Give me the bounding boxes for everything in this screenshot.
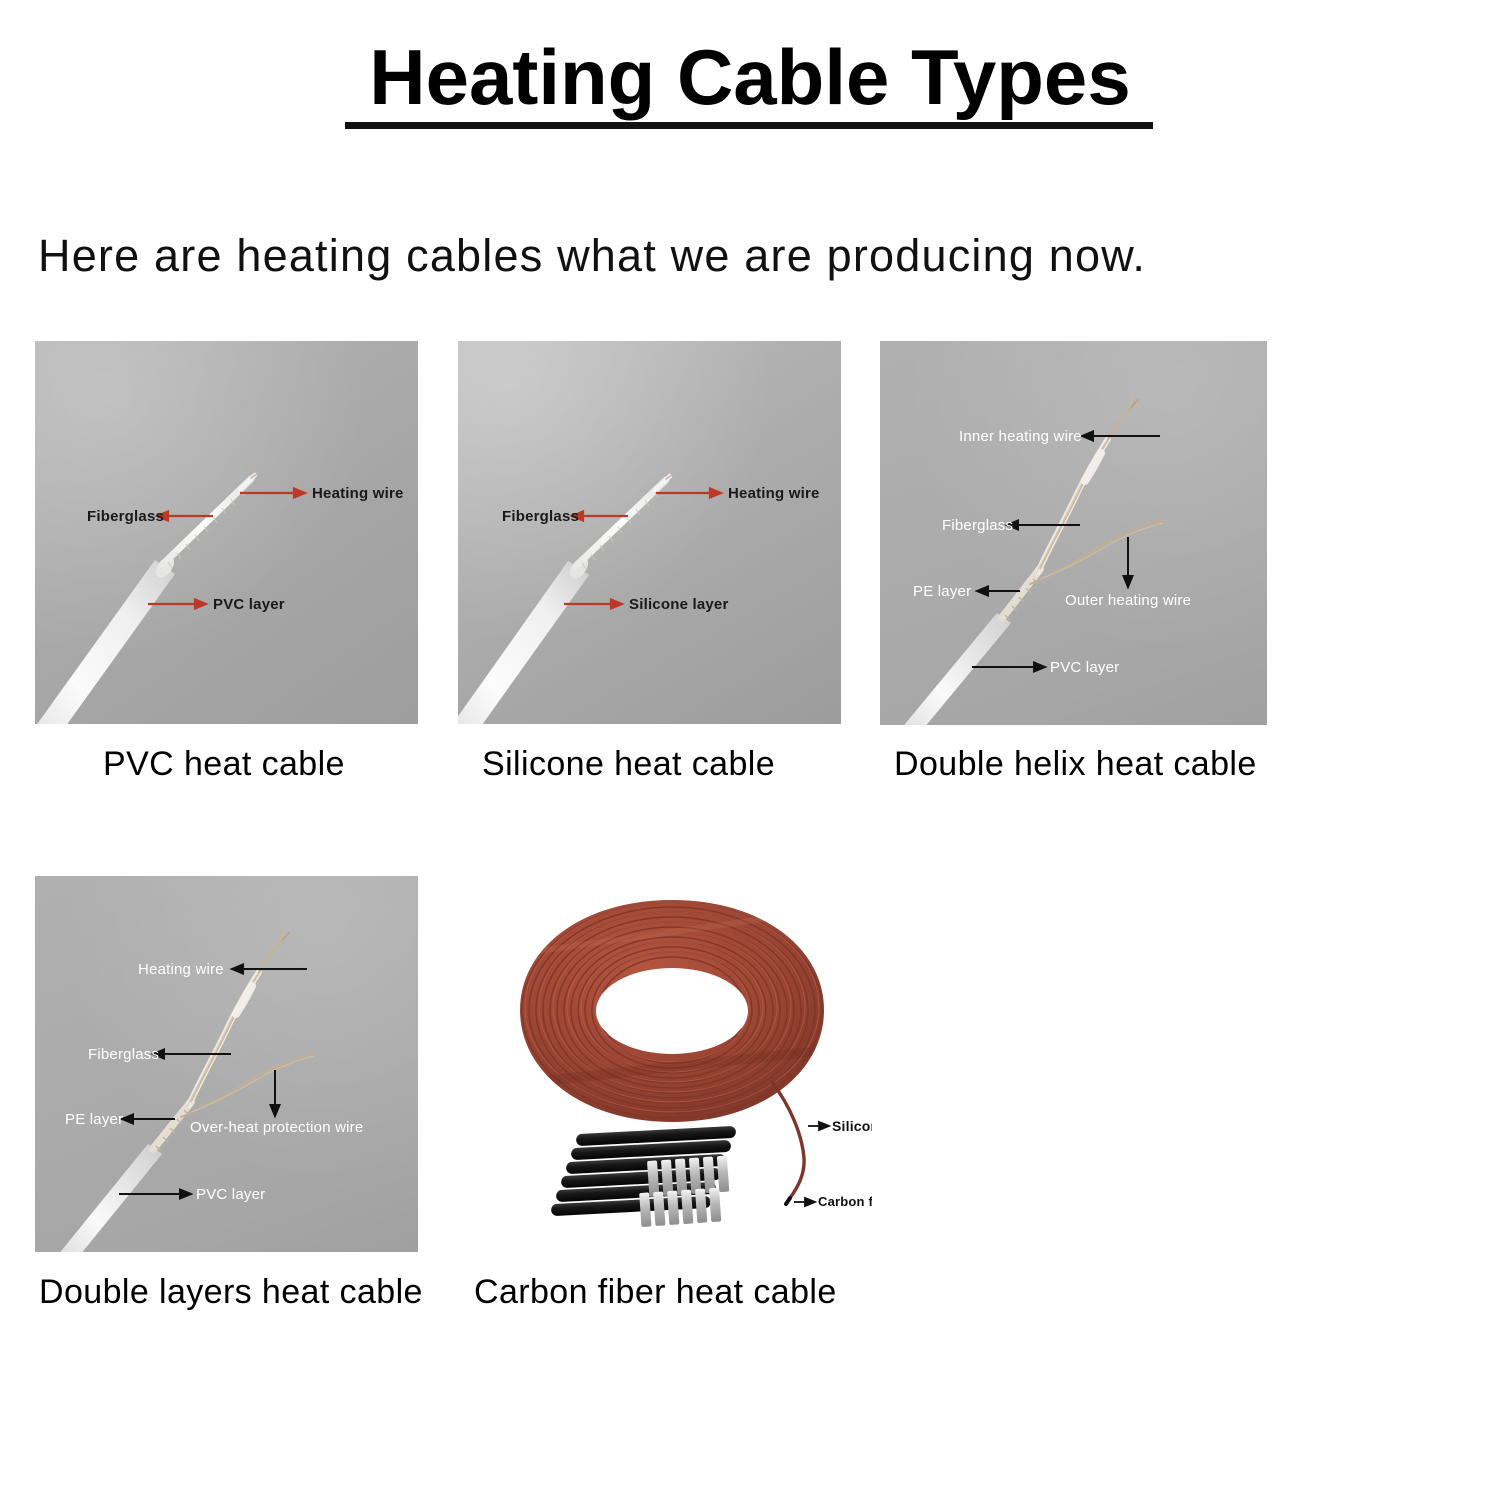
cable-photo-silicone: Heating wire Fiberglass Silicone layer <box>458 341 841 724</box>
page-title: Heating Cable Types <box>0 38 1500 116</box>
cable-card-helix[interactable]: Inner heating wire Fiberglass PE layer O… <box>880 341 1267 725</box>
annotation-fiberglass: Fiberglass <box>502 509 579 524</box>
annotation-silicone-layer: Silicone layer <box>832 1119 872 1133</box>
silicone-cable-illustration <box>458 341 841 724</box>
carbon-fiber-cable-illustration <box>472 882 872 1252</box>
annotation-carbon-fiber-wire: Carbon fiber heat wire <box>818 1195 872 1208</box>
cable-caption-pvc: PVC heat cable <box>103 745 345 784</box>
annotation-pvc-layer: PVC layer <box>213 597 285 612</box>
annotation-heating-wire: Heating wire <box>312 486 404 501</box>
annotation-inner-heating-wire: Inner heating wire <box>959 429 1082 444</box>
annotation-pe-layer: PE layer <box>913 584 971 599</box>
cable-caption-helix: Double helix heat cable <box>894 745 1257 784</box>
cable-caption-carbon: Carbon fiber heat cable <box>474 1273 837 1312</box>
cable-card-pvc[interactable]: Heating wire Fiberglass PVC layer PVC he… <box>35 341 418 724</box>
cable-photo-pvc: Heating wire Fiberglass PVC layer <box>35 341 418 724</box>
cable-photo-layers: Heating wire Fiberglass PE layer Over-he… <box>35 876 418 1252</box>
cable-card-layers[interactable]: Heating wire Fiberglass PE layer Over-he… <box>35 876 418 1252</box>
cable-caption-layers: Double layers heat cable <box>39 1273 423 1312</box>
title-underline <box>345 122 1153 129</box>
annotation-outer-heating-wire: Outer heating wire <box>1065 593 1191 608</box>
annotation-pe-layer: PE layer <box>65 1112 123 1127</box>
annotation-overheat-wire: Over-heat protection wire <box>190 1120 363 1135</box>
page-subtitle: Here are heating cables what we are prod… <box>38 230 1146 282</box>
annotation-fiberglass: Fiberglass <box>87 509 164 524</box>
cable-caption-silicone: Silicone heat cable <box>482 745 775 784</box>
annotation-fiberglass: Fiberglass <box>942 518 1013 533</box>
annotation-silicone-layer: Silicone layer <box>629 597 729 612</box>
cable-photo-carbon: Silicone layer Carbon fiber heat wire <box>472 882 872 1252</box>
pvc-cable-illustration <box>35 341 418 724</box>
annotation-heating-wire: Heating wire <box>138 962 224 977</box>
cable-card-carbon[interactable]: Silicone layer Carbon fiber heat wire Ca… <box>472 882 872 1252</box>
annotation-pvc-layer: PVC layer <box>1050 660 1119 675</box>
annotation-pvc-layer: PVC layer <box>196 1187 265 1202</box>
annotation-heating-wire: Heating wire <box>728 486 820 501</box>
annotation-fiberglass: Fiberglass <box>88 1047 159 1062</box>
cable-photo-helix: Inner heating wire Fiberglass PE layer O… <box>880 341 1267 725</box>
cable-card-silicone[interactable]: Heating wire Fiberglass Silicone layer S… <box>458 341 841 724</box>
